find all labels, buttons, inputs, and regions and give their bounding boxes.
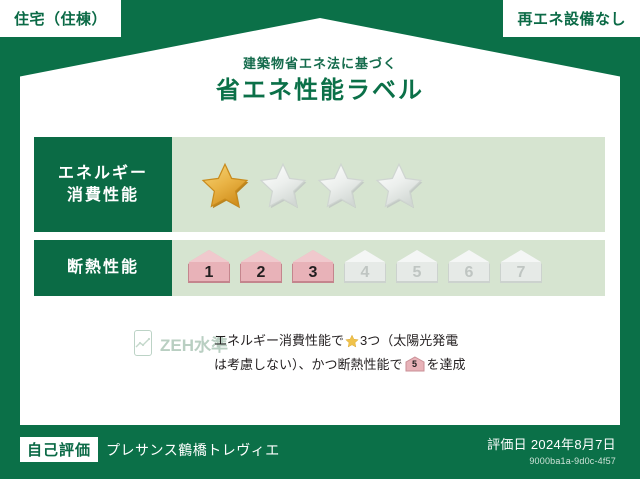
- energy-performance-label: 住宅（住棟） 再エネ設備なし 建築物省エネ法に基づく 省エネ性能ラベル エネルギ…: [0, 0, 640, 479]
- insulation-level-value: 2: [257, 264, 266, 288]
- insulation-level-value: 1: [205, 264, 214, 288]
- evaluation-id: 9000ba1a-9d0c-4f57: [487, 456, 616, 466]
- building-name: プレサンス鶴橋トレヴィエ: [106, 440, 280, 460]
- title-subtitle: 建築物省エネ法に基づく: [0, 56, 640, 72]
- self-evaluation-badge: 自己評価: [20, 437, 98, 462]
- row-insulation-performance: 断熱性能 1234567: [34, 240, 605, 296]
- zeh-section: ZEH水準 エネルギー消費性能で3つ（太陽光発電 は考慮しない）、かつ断熱性能で…: [34, 330, 605, 376]
- inline-house-badge: 5: [405, 356, 425, 372]
- star-rating: [172, 161, 424, 209]
- insulation-level-empty: 4: [341, 248, 389, 288]
- zeh-description: エネルギー消費性能で3つ（太陽光発電 は考慮しない）、かつ断熱性能で5を達成: [214, 330, 466, 376]
- zeh-desc-part3: は考慮しない）、かつ断熱性能で: [214, 357, 403, 372]
- zeh-chart-icon: [134, 330, 152, 356]
- footer-right: 評価日 2024年8月7日 9000ba1a-9d0c-4f57: [487, 434, 616, 466]
- insulation-level-filled: 1: [185, 248, 233, 288]
- star-empty-icon: [374, 161, 424, 209]
- star-empty-icon: [258, 161, 308, 209]
- insulation-level-empty: 5: [393, 248, 441, 288]
- inline-house-badge-value: 5: [405, 356, 425, 372]
- footer-left: 自己評価 プレサンス鶴橋トレヴィエ: [20, 437, 280, 462]
- insulation-level-value: 4: [361, 264, 370, 288]
- tag-building-type: 住宅（住棟）: [0, 0, 121, 37]
- page-title: 省エネ性能ラベル: [0, 77, 640, 106]
- tag-renewable-energy: 再エネ設備なし: [503, 0, 640, 37]
- zeh-desc-part4: を達成: [427, 357, 466, 372]
- inline-star-icon: [345, 333, 359, 354]
- insulation-level-value: 5: [413, 264, 422, 288]
- evaluation-date-value: 2024年8月7日: [531, 437, 616, 452]
- row-energy-value: [172, 137, 605, 232]
- evaluation-date-label: 評価日: [487, 437, 527, 452]
- insulation-level-value: 3: [309, 264, 318, 288]
- star-filled-icon: [200, 161, 250, 209]
- insulation-level-value: 6: [465, 264, 474, 288]
- zeh-mark: ZEH水準: [34, 330, 214, 356]
- row-insulation-label: 断熱性能: [34, 240, 172, 296]
- insulation-level-filled: 2: [237, 248, 285, 288]
- insulation-level-empty: 7: [497, 248, 545, 288]
- row-energy-label: エネルギー 消費性能: [34, 137, 172, 232]
- insulation-level-empty: 6: [445, 248, 493, 288]
- zeh-desc-part1: エネルギー消費性能で: [214, 333, 344, 348]
- row-insulation-value: 1234567: [172, 240, 605, 296]
- row-energy-performance: エネルギー 消費性能: [34, 137, 605, 232]
- row-energy-label-line1: エネルギー: [58, 163, 148, 185]
- row-energy-label-line2: 消費性能: [67, 185, 139, 207]
- insulation-level-scale: 1234567: [172, 248, 545, 288]
- zeh-desc-part2: 3つ（太陽光発電: [360, 333, 458, 348]
- star-empty-icon: [316, 161, 366, 209]
- insulation-level-filled: 3: [289, 248, 337, 288]
- row-insulation-label-line1: 断熱性能: [67, 257, 139, 279]
- title-block: 建築物省エネ法に基づく 省エネ性能ラベル: [0, 56, 640, 105]
- insulation-level-value: 7: [517, 264, 526, 288]
- evaluation-date: 評価日 2024年8月7日: [487, 434, 616, 453]
